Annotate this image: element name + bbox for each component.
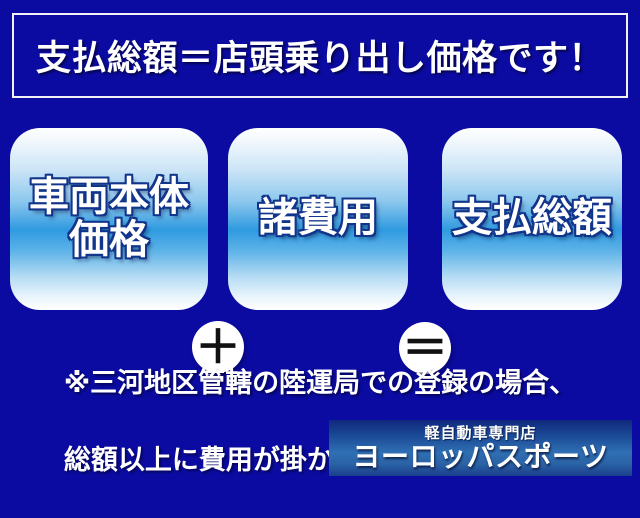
shop-logo-subtitle: 軽自動車専門店 — [424, 426, 536, 441]
shop-logo-panel: 軽自動車専門店 ヨーロッパスポーツ — [329, 420, 632, 476]
formula-box-vehicle-price-label: 車両本体 価格 — [29, 176, 189, 262]
pricing-banner: 支払総額＝店頭乗り出し価格です！ 車両本体 価格 ＋ 諸費用 ＝ 支払総額 ※三… — [0, 0, 640, 480]
shop-logo-name: ヨーロッパスポーツ — [353, 443, 609, 471]
formula-box-total-payment: 支払総額 — [442, 128, 622, 310]
header-box: 支払総額＝店頭乗り出し価格です！ — [12, 13, 628, 98]
formula-box-fees-label: 諸費用 — [258, 197, 378, 240]
formula-box-fees: 諸費用 — [228, 128, 408, 310]
formula-row: 車両本体 価格 ＋ 諸費用 ＝ 支払総額 — [0, 128, 640, 310]
footnote-line-1: ※三河地区管轄の陸運局での登録の場合、 — [0, 364, 640, 402]
header-title: 支払総額＝店頭乗り出し価格です！ — [36, 30, 604, 81]
formula-box-total-payment-label: 支払総額 — [452, 197, 612, 240]
formula-box-vehicle-price: 車両本体 価格 — [10, 128, 208, 310]
